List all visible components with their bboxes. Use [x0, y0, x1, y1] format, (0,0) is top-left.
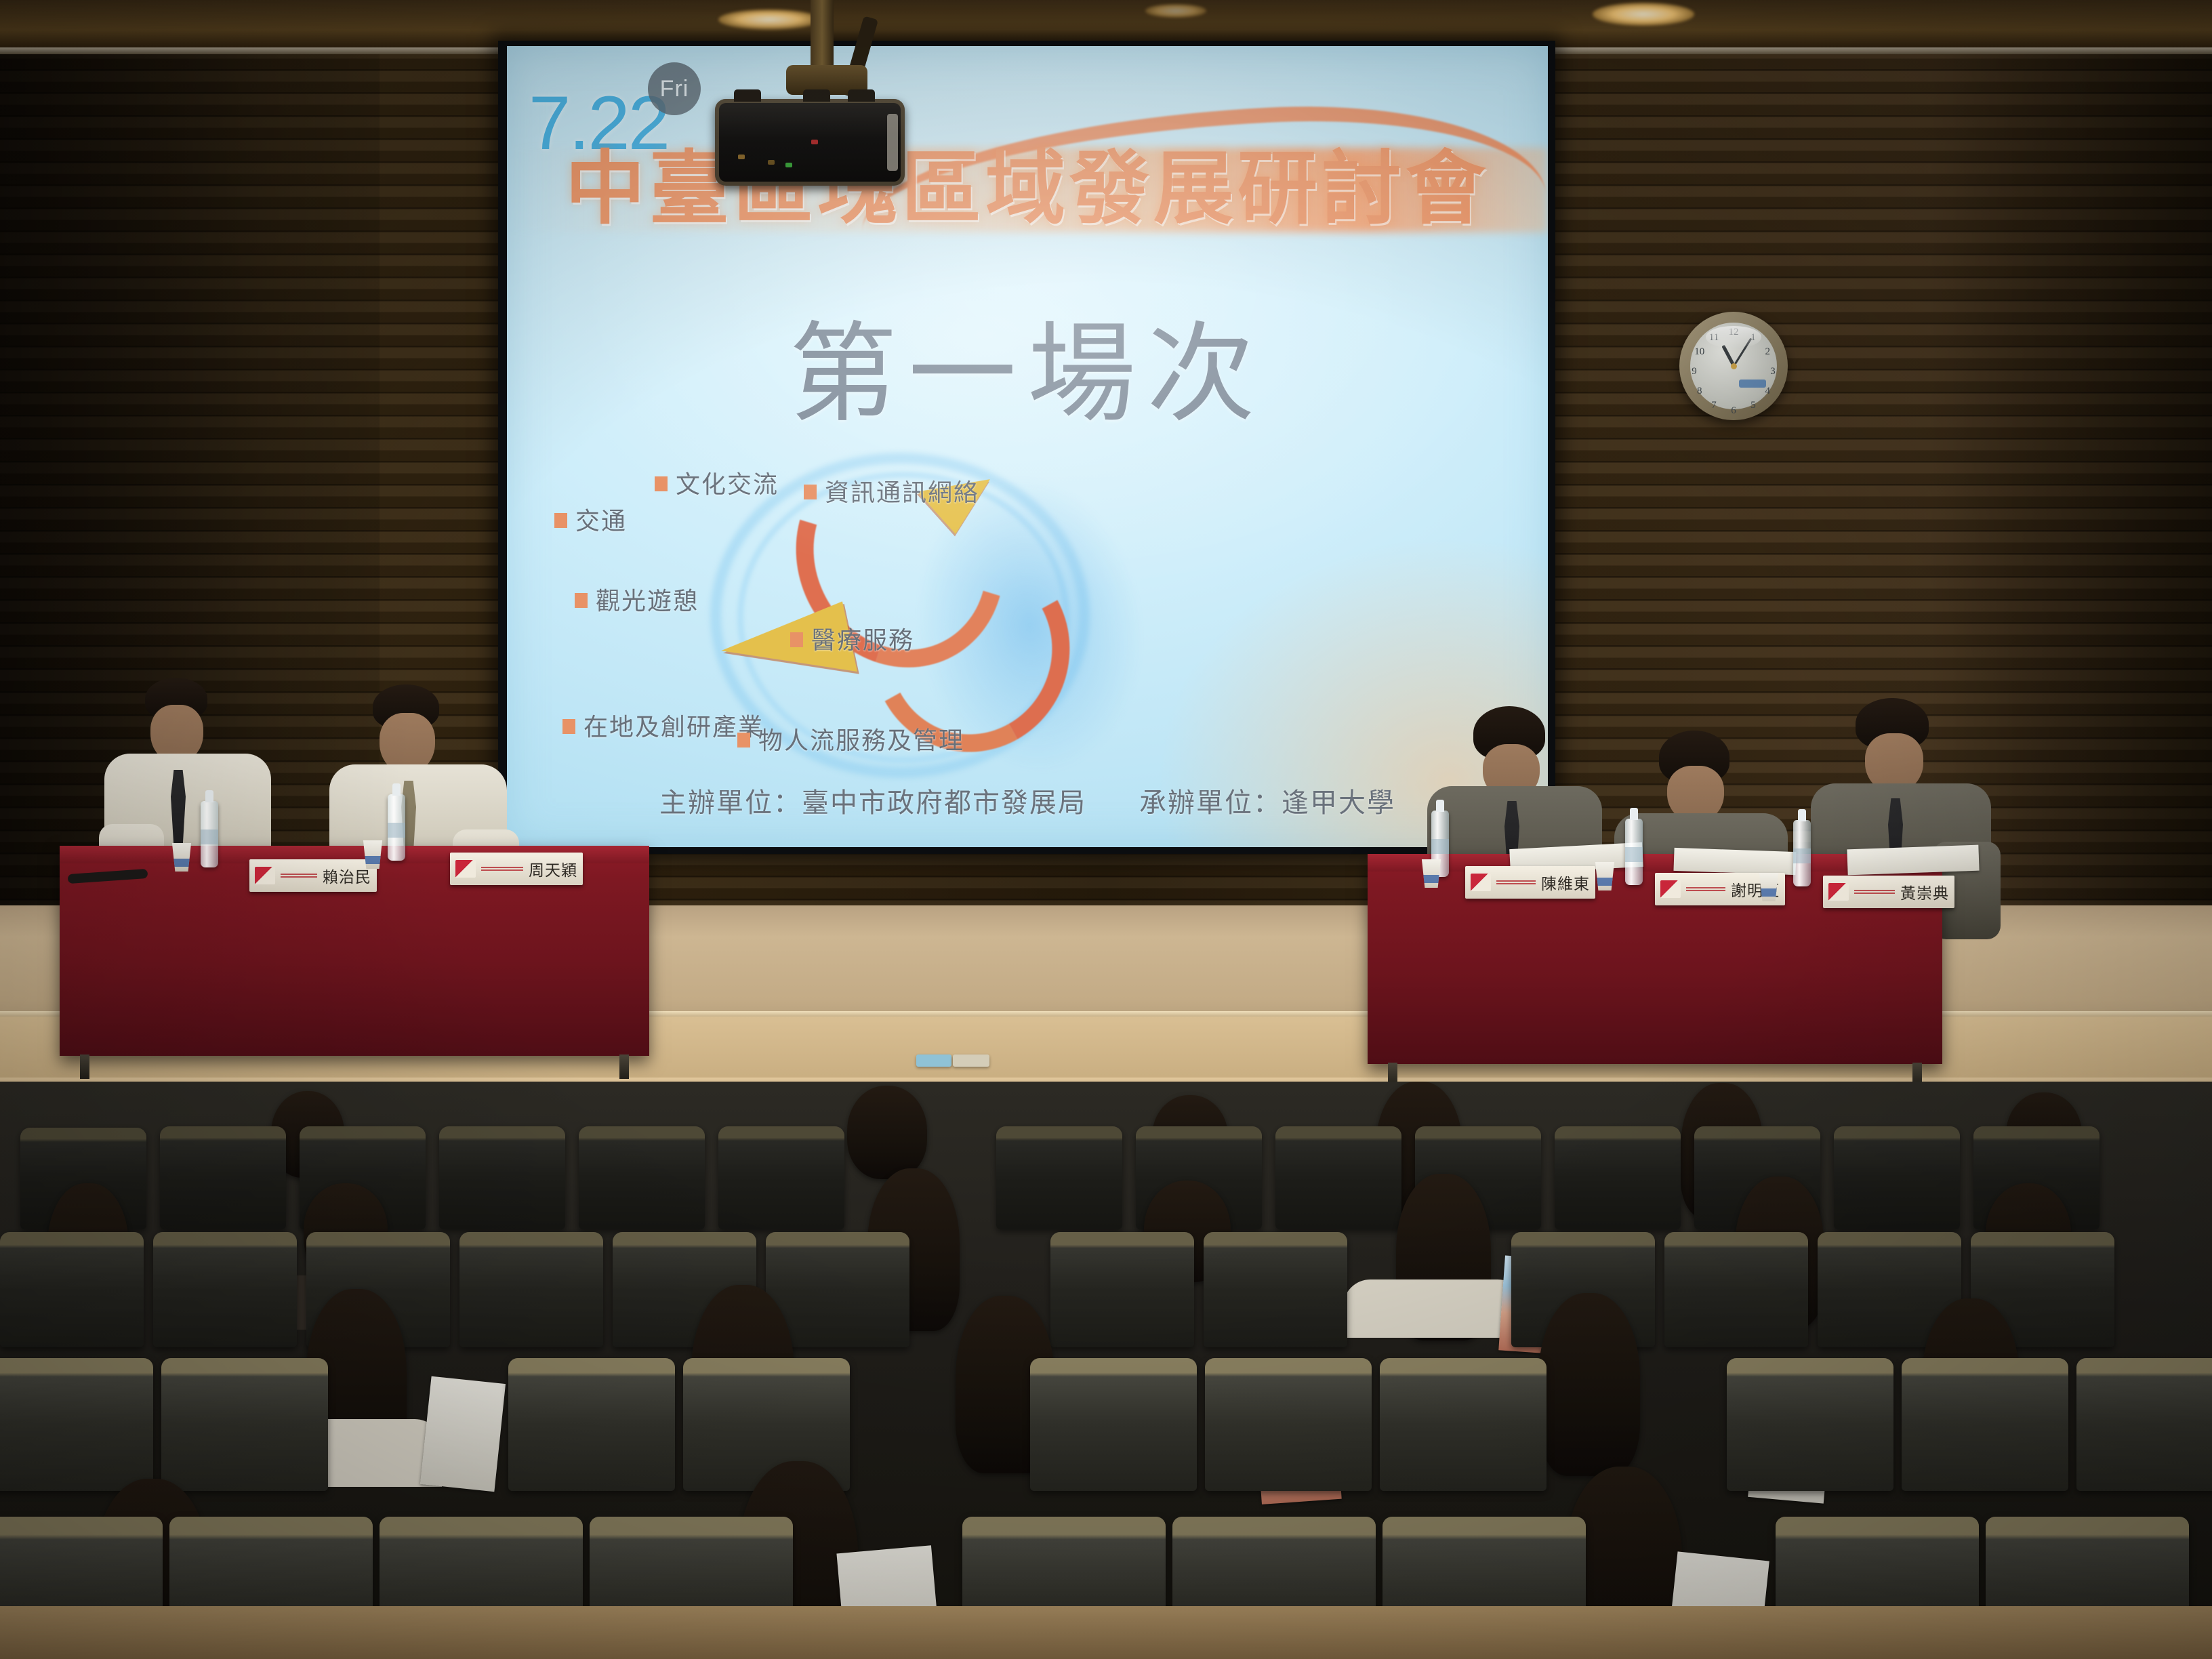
slide-bullet-medical: 醫療服務	[790, 621, 914, 656]
bullet-label: 交通	[575, 508, 627, 535]
bullet-square-icon	[575, 593, 588, 608]
bottle-label	[1431, 839, 1449, 854]
projected-slide: 7.22 Fri 中臺區塊區域發展研討會 第一場次 交通 文化交流 資訊通訊網絡…	[507, 46, 1548, 847]
slide-bullet-logistics: 物人流服務及管理	[737, 721, 964, 756]
slide-day-badge: Fri	[648, 62, 701, 115]
table-leg	[80, 1054, 89, 1079]
front-row-desk	[0, 1606, 2212, 1659]
nameplate-name: 黃崇典	[1900, 880, 1949, 903]
bottle-label	[201, 829, 218, 844]
seat	[2076, 1358, 2212, 1491]
clock-brand-mark	[1739, 380, 1766, 388]
bullet-label: 資訊通訊網絡	[825, 479, 979, 507]
seat	[579, 1126, 705, 1229]
bullet-square-icon	[562, 719, 575, 734]
program-handout	[420, 1376, 506, 1492]
nameplate-left-2: 周天穎	[450, 853, 583, 885]
projector-status-led	[811, 140, 818, 144]
seat	[1030, 1358, 1197, 1491]
document-sheet	[1673, 848, 1796, 875]
seat	[1664, 1232, 1808, 1347]
water-bottle	[1625, 819, 1643, 885]
nameplate-org-line	[481, 867, 523, 872]
nameplate-org-line	[1686, 887, 1725, 892]
stage-object	[916, 1054, 951, 1067]
slide-bullet-transport: 交通	[554, 501, 627, 537]
projector-status-led	[785, 163, 792, 167]
slide-footer-host: 主辦單位：臺中市政府都市發展局	[659, 781, 1086, 820]
clock-numeral: 3	[1729, 366, 1816, 377]
clock-numeral: 9	[1651, 366, 1738, 377]
clock-glass-glare	[1706, 326, 1761, 348]
projector-vent	[887, 114, 898, 171]
seat	[1205, 1358, 1372, 1491]
bullet-label: 文化交流	[676, 471, 779, 499]
bottle-label	[1625, 847, 1643, 862]
seat	[718, 1126, 844, 1229]
projector-knob	[803, 89, 830, 102]
bottle-label	[1793, 848, 1811, 863]
slide-title: 中臺區塊區域發展研討會	[507, 148, 1548, 229]
bottle-label	[388, 823, 405, 838]
projector-status-led	[738, 155, 745, 159]
document-sheet	[1847, 845, 1979, 876]
seat	[439, 1126, 565, 1229]
bullet-label: 醫療服務	[811, 627, 914, 655]
nameplate-name: 周天穎	[529, 857, 577, 880]
nameplate-right-1: 陳維東	[1465, 866, 1595, 899]
ceiling-light	[718, 9, 820, 30]
seat	[1727, 1358, 1893, 1491]
table-leg	[619, 1054, 629, 1079]
seat	[1380, 1358, 1547, 1491]
seat	[996, 1126, 1122, 1229]
nameplate-name: 賴治民	[323, 864, 371, 887]
seat	[1050, 1232, 1194, 1347]
projector-knob	[848, 89, 875, 102]
attendee-head	[847, 1086, 927, 1179]
slide-footer-organizer: 承辦單位：逢甲大學	[1139, 781, 1395, 820]
ceiling-light	[1145, 4, 1206, 18]
seat	[153, 1232, 297, 1347]
nameplate-left-1: 賴治民	[249, 859, 377, 892]
ceiling-light	[1593, 3, 1694, 26]
water-bottle	[201, 801, 218, 867]
seat	[161, 1358, 328, 1491]
nameplate-right-3: 黃崇典	[1823, 876, 1954, 908]
slide-session-heading: 第一場次	[507, 320, 1548, 428]
nameplate-org-line	[1496, 880, 1536, 885]
bullet-square-icon	[554, 513, 567, 528]
nameplate-logo	[1471, 874, 1491, 891]
attendee-shoulders	[1343, 1279, 1525, 1338]
wall-clock: 12 1 2 3 4 5 6 7 8 9 10 11	[1679, 312, 1788, 420]
nameplate-org-line	[281, 874, 317, 878]
nameplate-name: 陳維東	[1541, 871, 1590, 894]
bullet-square-icon	[655, 476, 668, 491]
nameplate-logo	[1660, 880, 1681, 898]
nameplate-logo	[255, 867, 275, 884]
bullet-square-icon	[737, 733, 750, 747]
slide-bullet-tourism: 觀光遊憩	[575, 581, 699, 617]
nameplate-logo	[1828, 883, 1849, 901]
seat	[508, 1358, 675, 1491]
seat	[1275, 1126, 1401, 1229]
audience-seating	[0, 1082, 2212, 1659]
water-bottle	[388, 794, 405, 861]
seat	[459, 1232, 603, 1347]
seat	[160, 1126, 286, 1229]
clock-numeral: 7	[1671, 400, 1757, 411]
seat	[1204, 1232, 1347, 1347]
bullet-label: 物人流服務及管理	[758, 727, 964, 755]
bullet-square-icon	[790, 632, 803, 647]
bullet-label: 觀光遊憩	[596, 588, 699, 615]
seat	[1902, 1358, 2068, 1491]
clock-face: 12 1 2 3 4 5 6 7 8 9 10 11	[1690, 323, 1777, 409]
nameplate-logo	[455, 860, 476, 878]
clock-numeral: 8	[1656, 386, 1743, 397]
seat	[0, 1358, 153, 1491]
nameplate-org-line	[1854, 890, 1895, 895]
seat	[1834, 1126, 1960, 1229]
seat	[1555, 1126, 1681, 1229]
slide-bullet-local-industry: 在地及創研產業	[562, 708, 764, 743]
stage-object	[953, 1054, 989, 1067]
water-bottle	[1793, 820, 1811, 886]
bullet-square-icon	[804, 485, 817, 499]
projector-status-led	[768, 160, 775, 165]
slide-bullet-culture: 文化交流	[655, 465, 779, 500]
clock-center-pin	[1731, 363, 1737, 369]
attendee-head	[1538, 1293, 1640, 1476]
auditorium-photo: 12 1 2 3 4 5 6 7 8 9 10 11 7.22 Fri 中臺區塊…	[0, 0, 2212, 1659]
slide-footer: 主辦單位：臺中市政府都市發展局 承辦單位：逢甲大學	[507, 781, 1548, 820]
projector	[715, 99, 905, 186]
seat	[0, 1232, 144, 1347]
projector-knob	[734, 89, 761, 102]
slide-bullet-ict: 資訊通訊網絡	[804, 473, 979, 508]
